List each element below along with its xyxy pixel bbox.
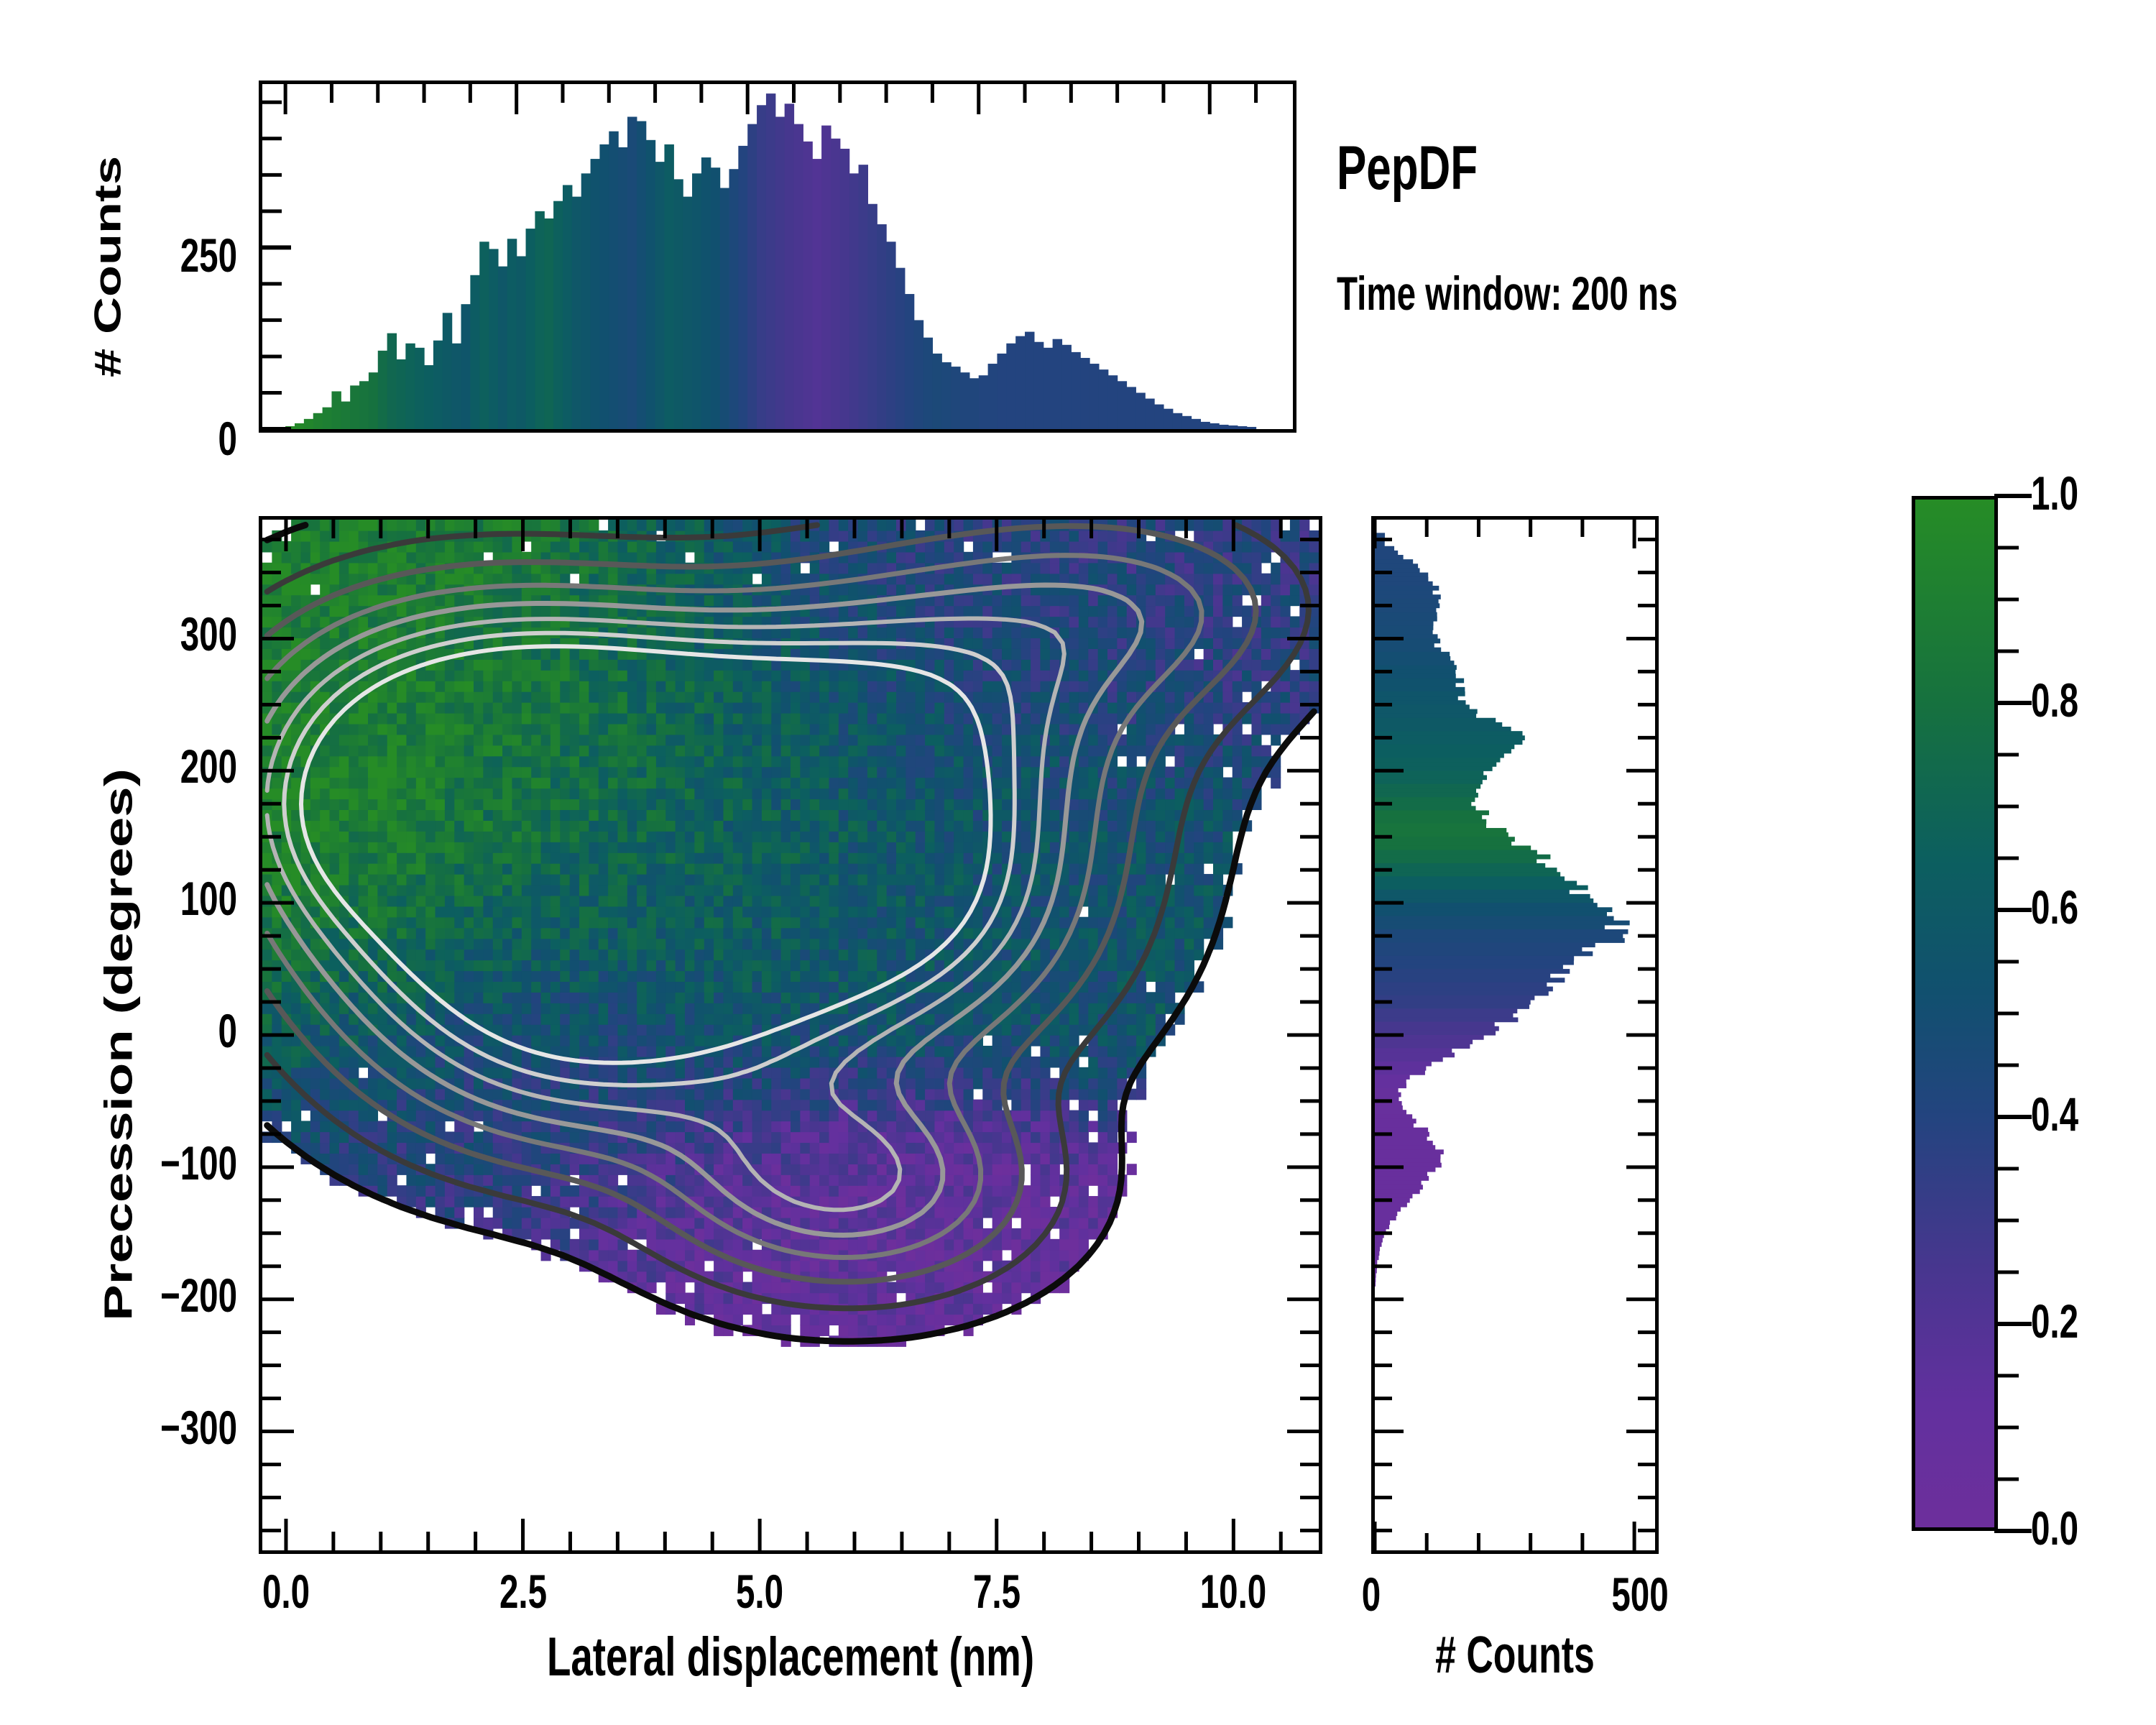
main-ylabel: Precession (degrees) bbox=[96, 484, 142, 1606]
colorbar bbox=[1912, 496, 1998, 1531]
colorbar-label: Normalized Mean Time bbox=[2152, 535, 2156, 1542]
right-histogram-ticks bbox=[1365, 510, 1667, 1567]
right-hist-xtick-500: 500 bbox=[1593, 1567, 1687, 1621]
colorbar-tick-label: 0.4 bbox=[2031, 1087, 2145, 1141]
top-hist-ytick-0: 0 bbox=[206, 411, 237, 466]
figure-subtitle: Time window: 200 ns bbox=[1337, 266, 1677, 321]
main-x-tick-label: 10.0 bbox=[1176, 1564, 1290, 1619]
top-hist-ytick-250: 250 bbox=[165, 228, 237, 282]
main-panel-ticks bbox=[253, 510, 1331, 1567]
colorbar-tick-label: 1.0 bbox=[2031, 466, 2145, 520]
right-histogram-xlabel: # Counts bbox=[1411, 1626, 1618, 1685]
colorbar-tick-label: 0.8 bbox=[2031, 673, 2145, 727]
colorbar-tick-label: 0.2 bbox=[2031, 1294, 2145, 1348]
figure-title: PepDF bbox=[1337, 133, 1478, 204]
main-x-tick-label: 5.0 bbox=[703, 1564, 816, 1619]
colorbar-tick-label: 0.0 bbox=[2031, 1501, 2145, 1555]
top-histogram-ylabel: # Counts bbox=[86, 116, 129, 418]
main-x-tick-label: 0.0 bbox=[229, 1564, 343, 1619]
main-x-tick-label: 7.5 bbox=[940, 1564, 1054, 1619]
main-xlabel: Lateral displacement (nm) bbox=[407, 1626, 1174, 1688]
main-x-tick-label: 2.5 bbox=[466, 1564, 579, 1619]
right-hist-xtick-0: 0 bbox=[1355, 1567, 1386, 1621]
colorbar-tick-label: 0.6 bbox=[2031, 880, 2145, 934]
colorbar-ticks bbox=[1994, 485, 2059, 1542]
top-histogram-ticks bbox=[253, 75, 1302, 448]
figure-root: PepDF Time window: 200 ns # Counts 0 250… bbox=[0, 0, 2156, 1725]
